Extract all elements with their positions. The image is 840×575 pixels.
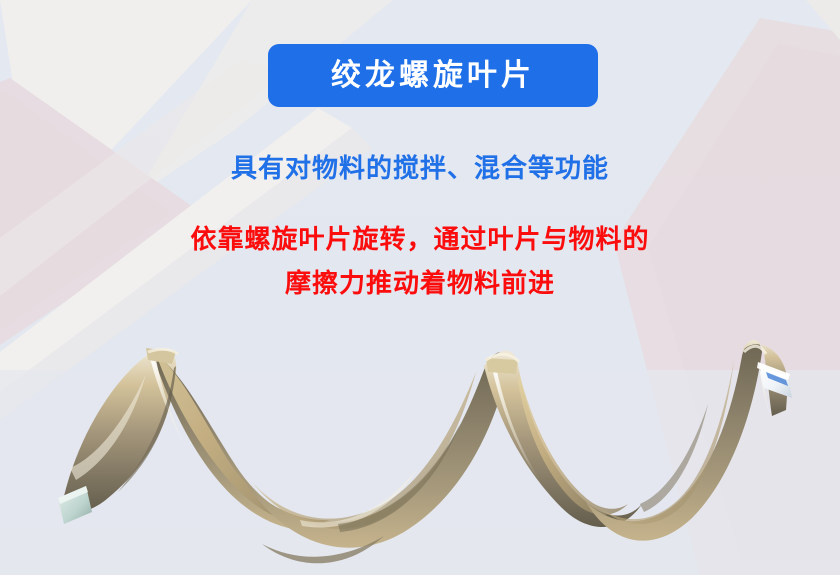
spacer-1 xyxy=(0,185,840,223)
spacer-2 xyxy=(0,255,840,267)
content-layer: 绞龙螺旋叶片 具有对物料的搅拌、混合等功能 依靠螺旋叶片旋转，通过叶片与物料的 … xyxy=(0,0,840,575)
description-block: 具有对物料的搅拌、混合等功能 依靠螺旋叶片旋转，通过叶片与物料的 摩擦力推动着物… xyxy=(0,152,840,300)
title-badge[interactable]: 绞龙螺旋叶片 xyxy=(268,44,598,107)
title-badge-label: 绞龙螺旋叶片 xyxy=(331,61,535,91)
poster-canvas: 绞龙螺旋叶片 具有对物料的搅拌、混合等功能 依靠螺旋叶片旋转，通过叶片与物料的 … xyxy=(0,0,840,575)
description-line-1: 具有对物料的搅拌、混合等功能 xyxy=(0,152,840,185)
description-line-2: 依靠螺旋叶片旋转，通过叶片与物料的 xyxy=(0,223,840,256)
description-line-3: 摩擦力推动着物料前进 xyxy=(0,267,840,300)
